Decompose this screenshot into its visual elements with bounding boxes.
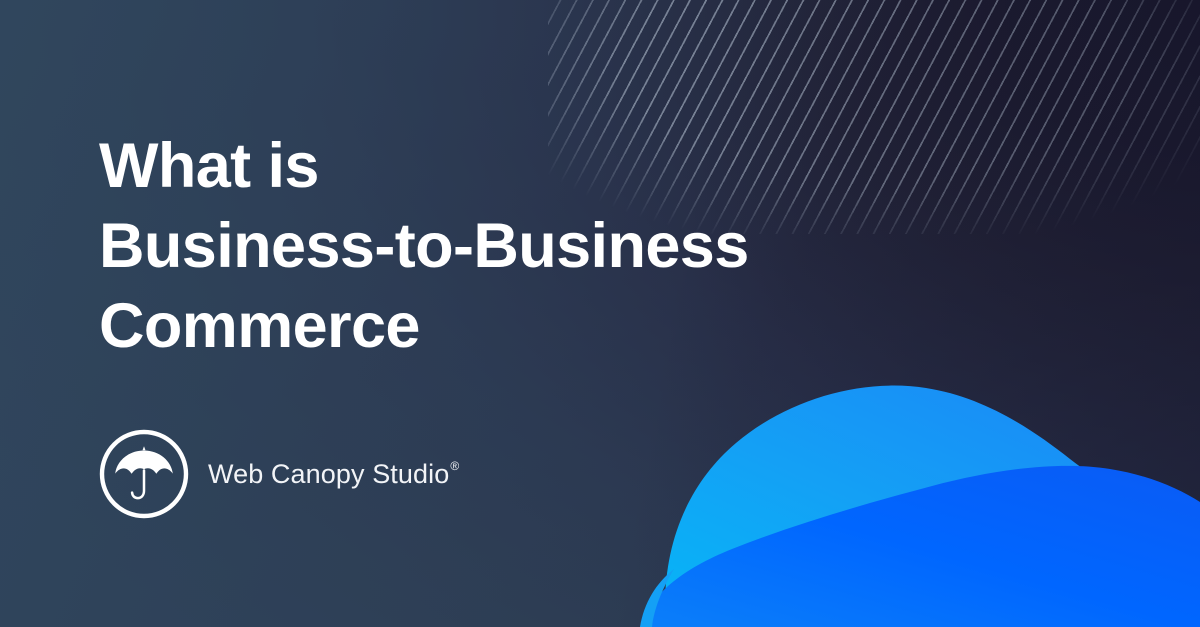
headline-line-1: What is: [99, 126, 889, 206]
brand-name: Web Canopy Studio®: [208, 459, 458, 490]
brand-name-text: Web Canopy Studio: [208, 459, 449, 489]
page-title: What is Business-to-Business Commerce: [99, 126, 889, 366]
umbrella-in-circle-icon: [99, 429, 189, 519]
brand-lockup: Web Canopy Studio®: [99, 429, 458, 519]
headline-line-3: Commerce: [99, 286, 889, 366]
blue-blob-decoration: [640, 347, 1200, 627]
headline-line-2: Business-to-Business: [99, 206, 889, 286]
social-share-banner: What is Business-to-Business Commerce We…: [0, 0, 1200, 627]
registered-trademark-icon: ®: [450, 459, 459, 473]
